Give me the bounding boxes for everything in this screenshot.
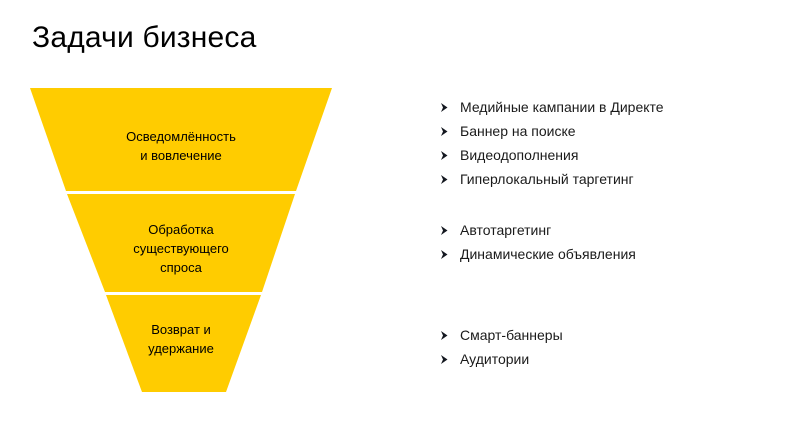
list-item: Видеодополнения [436, 146, 786, 170]
list-item: Автотаргетинг [436, 221, 786, 245]
slide-canvas: Задачи бизнеса Осведомлённость и вовлече… [0, 0, 799, 445]
list-item-label: Видеодополнения [456, 146, 786, 165]
arrow-right-icon [436, 98, 456, 117]
list-item: Гиперлокальный таргетинг [436, 170, 786, 194]
funnel-stage-1-label: Осведомлённость и вовлечение [71, 127, 291, 165]
arrow-right-icon [436, 326, 456, 345]
list-item-label: Гиперлокальный таргетинг [456, 170, 786, 189]
list-item: Баннер на поиске [436, 122, 786, 146]
arrow-right-icon [436, 221, 456, 240]
funnel-diagram: Осведомлённость и вовлечение Обработка с… [0, 0, 400, 445]
funnel-stage-2-label: Обработка существующего спроса [91, 220, 271, 277]
bullet-group-retention: Смарт-баннеры Аудитории [436, 326, 786, 374]
funnel-stage-3-label: Возврат и удержание [106, 320, 256, 358]
arrow-right-icon [436, 146, 456, 165]
arrow-right-icon [436, 245, 456, 264]
arrow-right-icon [436, 122, 456, 141]
list-item-label: Медийные кампании в Директе [456, 98, 786, 117]
bullet-group-awareness: Медийные кампании в Директе Баннер на по… [436, 98, 786, 194]
list-item: Аудитории [436, 350, 786, 374]
list-item-label: Смарт-баннеры [456, 326, 786, 345]
list-item: Медийные кампании в Директе [436, 98, 786, 122]
list-item: Смарт-баннеры [436, 326, 786, 350]
arrow-right-icon [436, 170, 456, 189]
list-item-label: Автотаргетинг [456, 221, 786, 240]
arrow-right-icon [436, 350, 456, 369]
list-item-label: Баннер на поиске [456, 122, 786, 141]
list-item: Динамические объявления [436, 245, 786, 269]
bullet-list-column: Медийные кампании в Директе Баннер на по… [436, 98, 786, 374]
bullet-group-demand: Автотаргетинг Динамические объявления [436, 221, 786, 269]
list-item-label: Динамические объявления [456, 245, 786, 264]
list-item-label: Аудитории [456, 350, 786, 369]
